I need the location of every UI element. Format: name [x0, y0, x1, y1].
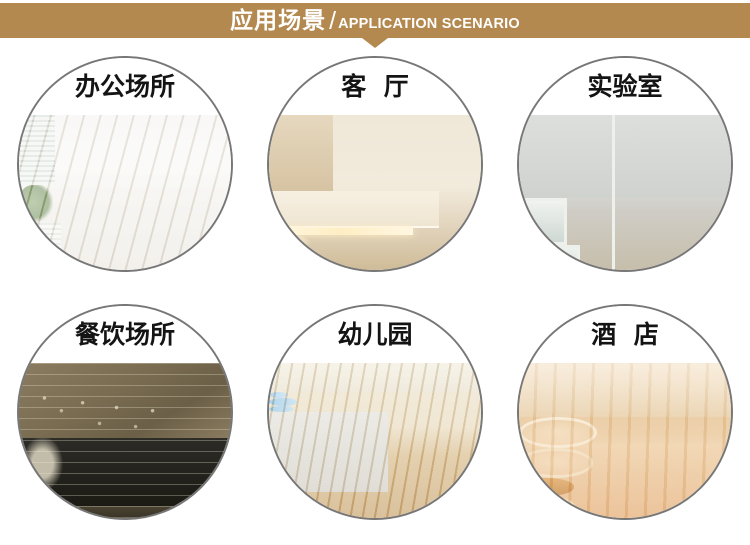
scenario-cell-laboratory: 实验室 — [500, 52, 750, 300]
page-title-cn: 应用场景 — [230, 10, 326, 33]
scenario-circle-laboratory[interactable]: 实验室 — [517, 56, 733, 272]
page-title-en: APPLICATION SCENARIO — [338, 17, 520, 32]
header-down-arrow-icon — [362, 38, 388, 48]
scenario-circle-dining-venue[interactable]: 餐饮场所 — [17, 304, 233, 520]
header-bar: 应用场景 / APPLICATION SCENARIO — [0, 3, 750, 38]
scenario-cell-living-room: 客 厅 — [250, 52, 500, 300]
scenario-circle-living-room[interactable]: 客 厅 — [267, 56, 483, 272]
scenario-label-kindergarten: 幼儿园 — [269, 306, 481, 363]
scenario-label-text: 酒 店 — [591, 322, 658, 347]
scenario-label-text: 幼儿园 — [337, 322, 412, 347]
scenario-label-text: 餐饮场所 — [75, 322, 175, 347]
hotel-lobby-photo — [519, 363, 731, 520]
scenario-label-hotel: 酒 店 — [519, 306, 731, 363]
header-title-group: 应用场景 / APPLICATION SCENARIO — [230, 8, 520, 33]
application-scenario-page: 应用场景 / APPLICATION SCENARIO — [0, 0, 750, 545]
restaurant-interior-photo — [19, 363, 231, 520]
scenario-label-text: 客 厅 — [341, 74, 408, 99]
scenario-label-text: 办公场所 — [75, 74, 175, 99]
scenario-grid: 办公场所 — [0, 52, 750, 542]
office-interior-photo — [19, 115, 231, 272]
scenario-label-office: 办公场所 — [19, 58, 231, 115]
scenario-cell-dining-venue: 餐饮场所 — [0, 300, 250, 545]
scenario-circle-office[interactable]: 办公场所 — [17, 56, 233, 272]
scenario-label-dining-venue: 餐饮场所 — [19, 306, 231, 363]
scenario-cell-hotel: 酒 店 — [500, 300, 750, 545]
section-header: 应用场景 / APPLICATION SCENARIO — [0, 0, 750, 48]
scenario-circle-hotel[interactable]: 酒 店 — [517, 304, 733, 520]
laboratory-interior-photo — [519, 115, 731, 272]
scenario-label-laboratory: 实验室 — [519, 58, 731, 115]
scenario-label-living-room: 客 厅 — [269, 58, 481, 115]
title-separator: / — [329, 9, 336, 34]
scenario-label-text: 实验室 — [587, 74, 662, 99]
scenario-cell-kindergarten: 幼儿园 — [250, 300, 500, 545]
living-room-interior-photo — [269, 115, 481, 272]
scenario-cell-office: 办公场所 — [0, 52, 250, 300]
scenario-circle-kindergarten[interactable]: 幼儿园 — [267, 304, 483, 520]
kindergarten-interior-photo — [269, 363, 481, 520]
